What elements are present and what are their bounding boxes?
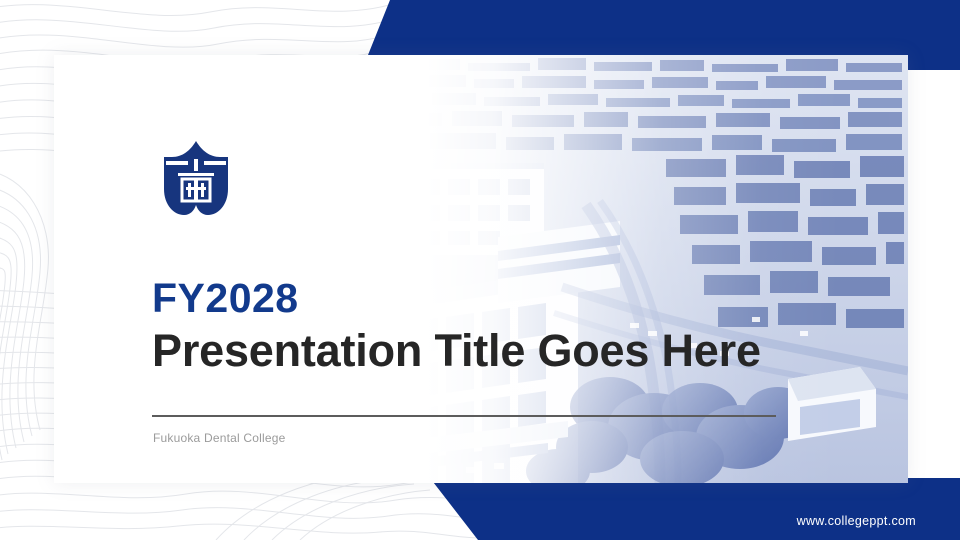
content-card: FY2028 Presentation Title Goes Here Fuku…	[54, 55, 908, 483]
page-title: Presentation Title Goes Here	[152, 326, 792, 376]
footer-website-url[interactable]: www.collegeppt.com	[797, 514, 916, 528]
aerial-campus-photo	[348, 55, 908, 483]
fukuoka-dental-college-crest-icon	[158, 139, 234, 219]
fiscal-year-heading: FY2028	[152, 277, 792, 320]
title-block: FY2028 Presentation Title Goes Here	[152, 277, 792, 376]
organization-name: Fukuoka Dental College	[153, 431, 285, 445]
presentation-slide: FY2028 Presentation Title Goes Here Fuku…	[0, 0, 960, 540]
title-divider	[152, 415, 776, 417]
